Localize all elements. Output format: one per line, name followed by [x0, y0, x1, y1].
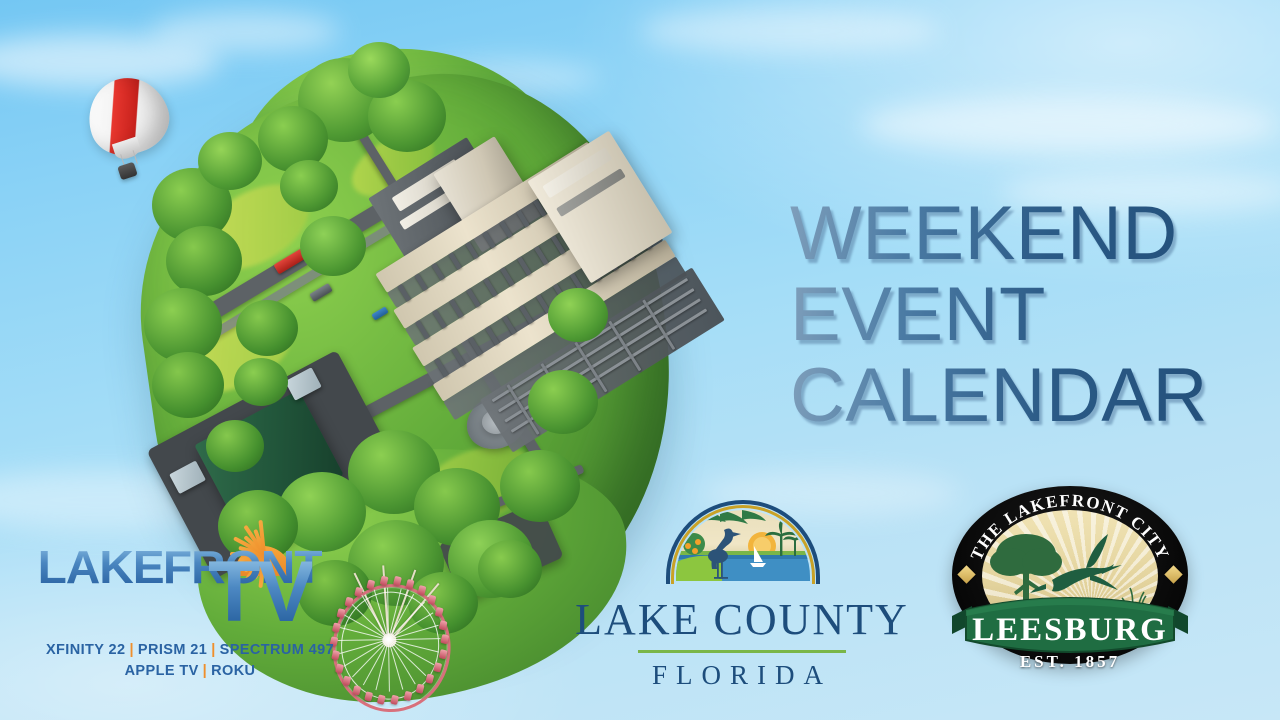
leesburg-city-seal-icon[interactable]: THE LAKEFRONT CITY LEESBURG EST. 1857	[952, 486, 1188, 700]
title-line-calendar: CALENDAR	[790, 358, 1210, 433]
lake-county-logo[interactable]: LAKE COUNTY FLORIDA	[556, 500, 928, 705]
channel-prism: PRISM 21	[138, 642, 207, 658]
channel-line-1: XFINITY 22|PRISM 21|SPECTRUM 497	[40, 640, 340, 661]
lake-county-name: LAKE COUNTY	[556, 594, 928, 645]
logo-word-lake: LAKE	[38, 546, 164, 588]
weekend-event-calendar-slide: WEEKEND EVENT CALENDAR LAKE FRONT TV XFI…	[0, 0, 1280, 720]
channel-listing: XFINITY 22|PRISM 21|SPECTRUM 497 APPLE T…	[40, 640, 340, 682]
title-line-weekend: WEEKEND	[790, 196, 1210, 271]
channel-separator: |	[203, 663, 207, 679]
channel-separator: |	[129, 642, 133, 658]
hot-air-balloon-icon	[88, 78, 168, 188]
leesburg-established-text: EST. 1857	[952, 652, 1188, 672]
channel-apple-tv: APPLE TV	[125, 663, 199, 679]
svg-text:LEESBURG: LEESBURG	[972, 612, 1168, 648]
heron-sunset-seal-icon	[666, 500, 820, 584]
leesburg-top-text: THE LAKEFRONT CITY	[967, 491, 1173, 563]
lakefront-tv-logo[interactable]: LAKE FRONT TV XFINITY 22|PRISM 21|SPECTR…	[40, 528, 340, 698]
cloud-decoration	[860, 96, 1280, 154]
channel-spectrum: SPECTRUM 497	[220, 642, 334, 658]
title-line-event: EVENT	[790, 277, 1210, 352]
lake-county-divider	[638, 650, 846, 653]
leesburg-banner-text: LEESBURG	[972, 612, 1168, 648]
seal-outer-ring	[666, 500, 820, 584]
lakefront-tv-wordmark: LAKE FRONT TV	[40, 546, 340, 588]
channel-separator: |	[211, 642, 215, 658]
logo-word-tv: TV	[208, 558, 312, 627]
channel-roku: ROKU	[211, 663, 255, 679]
channel-xfinity: XFINITY 22	[46, 642, 125, 658]
page-title: WEEKEND EVENT CALENDAR	[790, 196, 1210, 434]
svg-text:THE LAKEFRONT CITY: THE LAKEFRONT CITY	[967, 491, 1173, 563]
lake-county-state: FLORIDA	[556, 660, 928, 691]
channel-line-2: APPLE TV|ROKU	[40, 661, 340, 682]
